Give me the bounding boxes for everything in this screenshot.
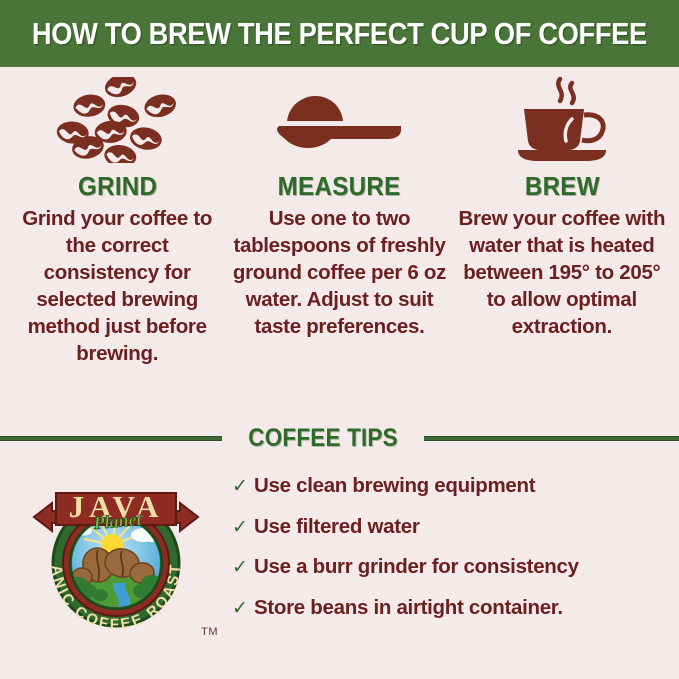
step-body-measure: Use one to two tablespoons of freshly gr…	[228, 205, 450, 340]
step-title-brew: BREW	[524, 173, 599, 199]
list-item: ✓ Use filtered water	[232, 515, 665, 539]
trademark-mark: TM	[201, 626, 218, 638]
tip-text: Use clean brewing equipment	[254, 474, 535, 498]
tip-text: Use a burr grinder for consistency	[254, 555, 579, 579]
check-icon: ✓	[232, 477, 254, 496]
step-title-measure: MEASURE	[278, 173, 401, 199]
steps-row: GRIND Grind your coffee to the correct c…	[0, 75, 679, 367]
header-banner: HOW TO BREW THE PERFECT CUP OF COFFEE	[0, 0, 679, 67]
page-title: HOW TO BREW THE PERFECT CUP OF COFFEE	[32, 18, 647, 49]
check-icon: ✓	[232, 518, 254, 537]
step-body-grind: Grind your coffee to the correct consist…	[6, 205, 228, 367]
step-grind: GRIND Grind your coffee to the correct c…	[6, 75, 228, 367]
divider-rule-right	[424, 436, 679, 441]
step-body-brew: Brew your coffee with water that is heat…	[451, 205, 673, 340]
bottom-section: ORGANIC COFFEE ROASTERS JAVA Planet TM ✓…	[0, 462, 679, 679]
step-title-grind: GRIND	[78, 173, 157, 199]
coffee-tips-divider: COFFEE TIPS	[0, 420, 679, 456]
java-planet-logo: ORGANIC COFFEE ROASTERS JAVA Planet TM	[0, 462, 232, 652]
tip-text: Use filtered water	[254, 515, 420, 539]
coffee-beans-icon	[52, 75, 182, 165]
list-item: ✓ Use a burr grinder for consistency	[232, 555, 665, 579]
list-item: ✓ Use clean brewing equipment	[232, 474, 665, 498]
tip-text: Store beans in airtight container.	[254, 596, 563, 620]
check-icon: ✓	[232, 599, 254, 618]
coffee-tips-heading: COFFEE TIPS	[232, 426, 414, 451]
coffee-cup-icon	[502, 75, 622, 165]
infographic-root: HOW TO BREW THE PERFECT CUP OF COFFEE	[0, 0, 679, 679]
divider-rule-left	[0, 436, 222, 441]
step-brew: BREW Brew your coffee with water that is…	[451, 75, 673, 340]
step-measure: MEASURE Use one to two tablespoons of fr…	[228, 75, 450, 340]
coffee-tips-list: ✓ Use clean brewing equipment ✓ Use filt…	[232, 462, 679, 636]
list-item: ✓ Store beans in airtight container.	[232, 596, 665, 620]
check-icon: ✓	[232, 558, 254, 577]
measuring-spoon-icon	[269, 75, 409, 165]
